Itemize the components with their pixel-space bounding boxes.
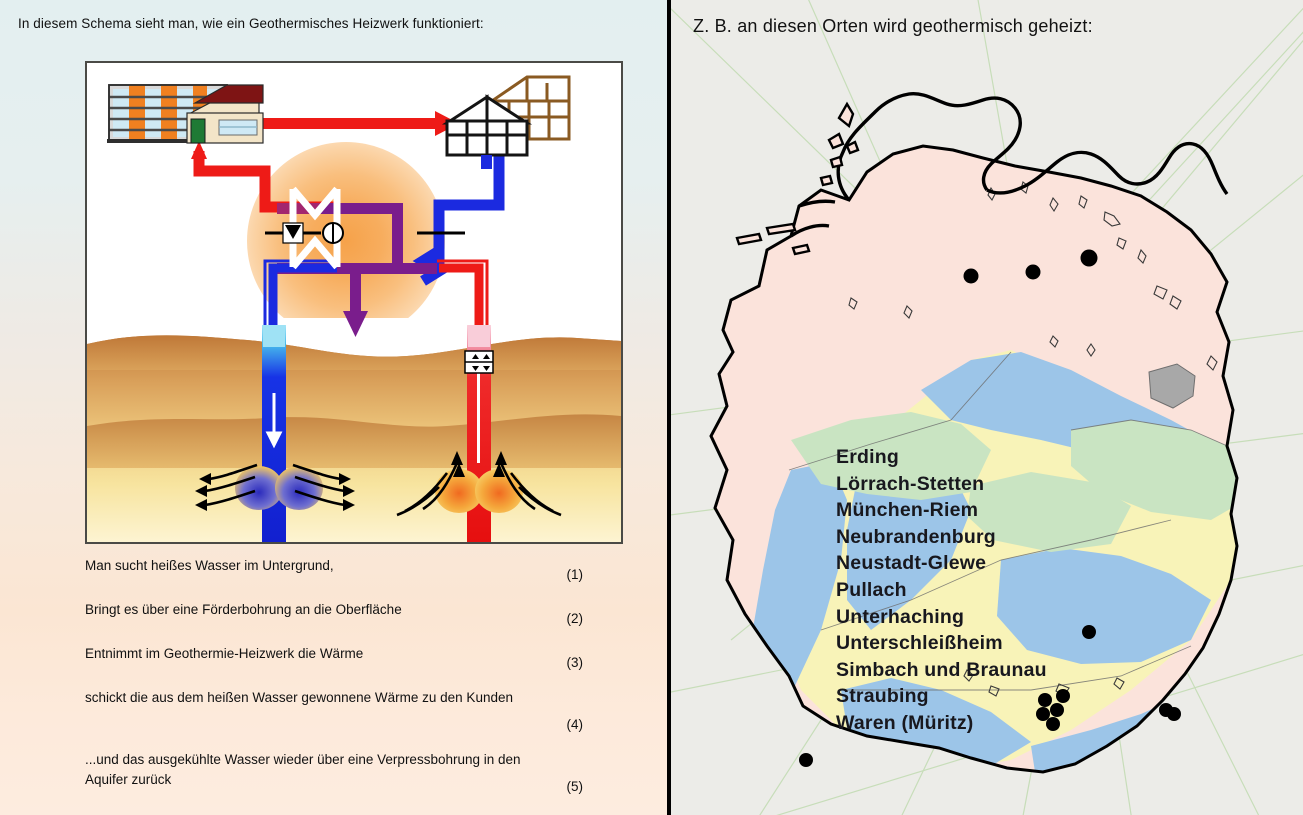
- page-root: In diesem Schema sieht man, wie ein Geot…: [0, 0, 1303, 815]
- list-item: Straubing: [836, 683, 1047, 710]
- geothermal-schematic: [85, 61, 623, 544]
- map-marker[interactable]: [1026, 265, 1041, 280]
- list-item: München-Riem: [836, 497, 1047, 524]
- step-text: Entnimmt im Geothermie-Heizwerk die Wärm…: [85, 644, 525, 664]
- greenhouse-return-stub: [481, 155, 492, 169]
- left-panel: In diesem Schema sieht man, wie ein Geot…: [0, 0, 668, 815]
- step-number: (1): [567, 567, 584, 582]
- process-steps-list: Man sucht heißes Wasser im Untergrund, (…: [85, 556, 625, 812]
- step-number: (5): [567, 779, 584, 794]
- map-marker[interactable]: [1056, 689, 1070, 703]
- right-caption: Z. B. an diesen Orten wird geothermisch …: [693, 16, 1293, 37]
- map-marker[interactable]: [1046, 717, 1060, 731]
- left-caption: In diesem Schema sieht man, wie ein Geot…: [18, 16, 638, 31]
- step-number: (2): [567, 611, 584, 626]
- buildings-group: [87, 63, 621, 183]
- map-marker[interactable]: [1082, 625, 1096, 639]
- list-item: Waren (Müritz): [836, 710, 1047, 737]
- list-item: Unterhaching: [836, 604, 1047, 631]
- right-panel: Z. B. an diesen Orten wird geothermisch …: [671, 0, 1303, 815]
- map-marker[interactable]: [964, 269, 979, 284]
- list-item: Simbach und Braunau: [836, 657, 1047, 684]
- map-marker[interactable]: [1167, 707, 1181, 721]
- step-number: (3): [567, 655, 584, 670]
- list-item: Pullach: [836, 577, 1047, 604]
- list-item: Neubrandenburg: [836, 524, 1047, 551]
- list-item: Man sucht heißes Wasser im Untergrund, (…: [85, 556, 625, 582]
- geothermal-city-list: Erding Lörrach-Stetten München-Riem Neub…: [836, 444, 1047, 737]
- list-item: ...und das ausgekühlte Wasser wieder übe…: [85, 750, 625, 794]
- map-marker[interactable]: [1050, 703, 1064, 717]
- list-item: Unterschleißheim: [836, 630, 1047, 657]
- map-marker[interactable]: [1081, 250, 1098, 267]
- list-item: Erding: [836, 444, 1047, 471]
- list-item: Lörrach-Stetten: [836, 471, 1047, 498]
- list-item: Neustadt-Glewe: [836, 550, 1047, 577]
- list-item: Bringt es über eine Förderbohrung an die…: [85, 600, 625, 626]
- step-text: Bringt es über eine Förderbohrung an die…: [85, 600, 525, 620]
- step-text: ...und das ausgekühlte Wasser wieder übe…: [85, 750, 525, 790]
- step-number: (4): [567, 717, 584, 732]
- step-text: schickt die aus dem heißen Wasser gewonn…: [85, 688, 525, 708]
- step-text: Man sucht heißes Wasser im Untergrund,: [85, 556, 525, 576]
- list-item: schickt die aus dem heißen Wasser gewonn…: [85, 688, 625, 732]
- map-marker[interactable]: [799, 753, 813, 767]
- list-item: Entnimmt im Geothermie-Heizwerk die Wärm…: [85, 644, 625, 670]
